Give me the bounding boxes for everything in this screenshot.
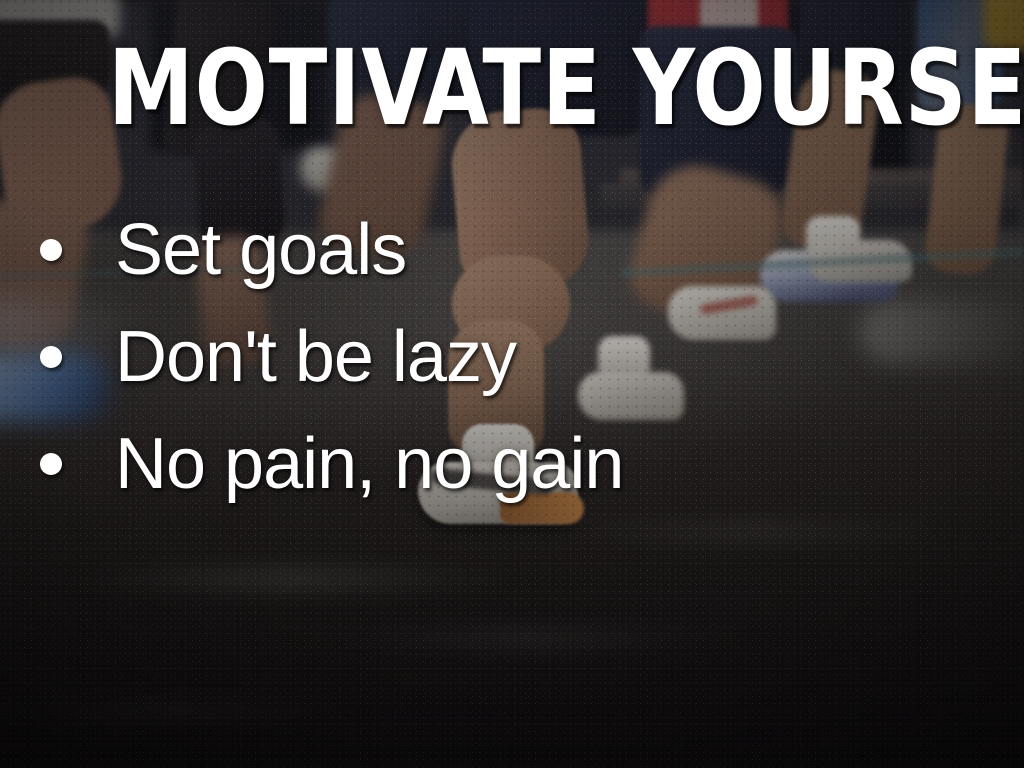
bullet-point-icon xyxy=(40,346,62,368)
list-item: Set goals xyxy=(40,196,980,303)
list-item: No pain, no gain xyxy=(40,410,980,517)
bullet-point-icon xyxy=(40,453,62,475)
slide-content: MOTIVATE YOURSELF Set goals Don't be laz… xyxy=(0,0,1024,768)
bullet-text: Set goals xyxy=(115,212,406,288)
page-title: MOTIVATE YOURSELF xyxy=(108,36,899,140)
bullet-point-icon xyxy=(40,239,62,261)
bullet-list: Set goals Don't be lazy No pain, no gain xyxy=(40,196,980,517)
bullet-text: Don't be lazy xyxy=(115,319,516,395)
presentation-slide: MOTIVATE YOURSELF Set goals Don't be laz… xyxy=(0,0,1024,768)
list-item: Don't be lazy xyxy=(40,303,980,410)
bullet-text: No pain, no gain xyxy=(115,426,623,502)
